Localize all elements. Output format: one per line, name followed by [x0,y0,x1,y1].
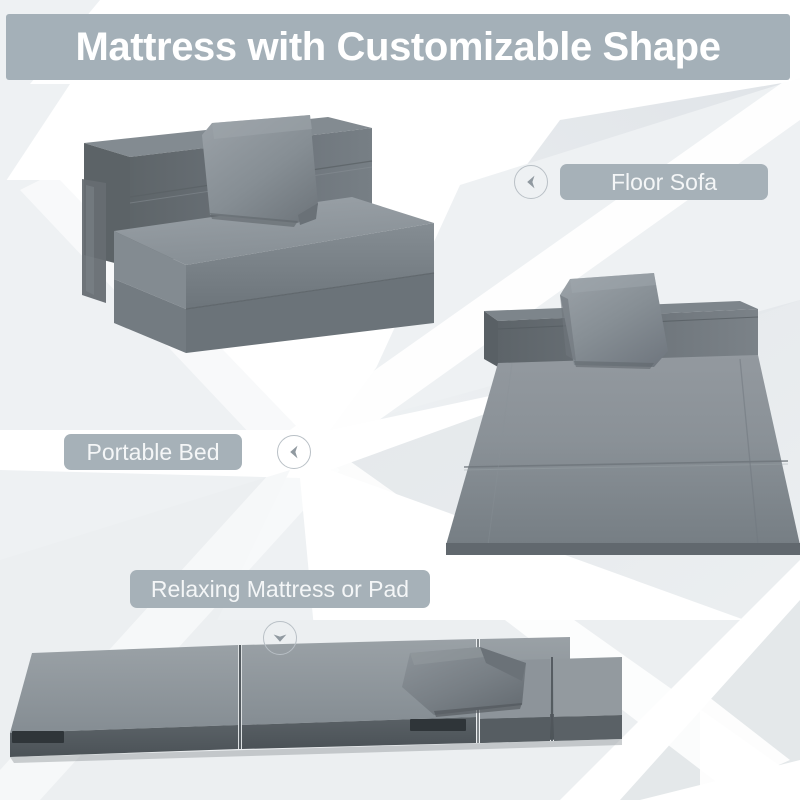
flat-panel-1-top [10,645,238,733]
product-image-floor-sofa [60,95,440,360]
arrow-left-circle-icon [514,165,548,199]
flat-panel-5-top [554,657,622,717]
sofa-throw-pillow [202,115,318,227]
flat-panel-4-front [480,717,550,743]
flat-panel-3-handle [410,719,466,731]
arrow-down-circle-icon [263,621,297,655]
page-title: Mattress with Customizable Shape [75,27,720,67]
callout-pill-portable-bed: Portable Bed [64,434,242,470]
arrow-left-circle-icon [277,435,311,469]
callout-pill-floor-sofa: Floor Sofa [560,164,768,200]
product-image-flat-mattress [10,625,800,775]
bed-mattress-surface [446,355,800,545]
callout-pill-relaxing-mattress: Relaxing Mattress or Pad [130,570,430,608]
infographic-canvas: Mattress with Customizable Shape [0,0,800,800]
bed-throw-pillow [560,273,668,369]
callout-label-floor-sofa: Floor Sofa [611,171,717,194]
flat-panel-5-front [554,715,622,741]
bed-mattress-front-edge [446,543,800,555]
sofa-side-fabric-flap-highlight [86,185,94,295]
callout-label-relaxing-mattress: Relaxing Mattress or Pad [151,578,409,601]
page-title-banner: Mattress with Customizable Shape [6,14,790,80]
flat-panel-1-handle [12,731,64,743]
product-image-portable-bed [440,255,800,555]
callout-label-portable-bed: Portable Bed [87,441,220,464]
